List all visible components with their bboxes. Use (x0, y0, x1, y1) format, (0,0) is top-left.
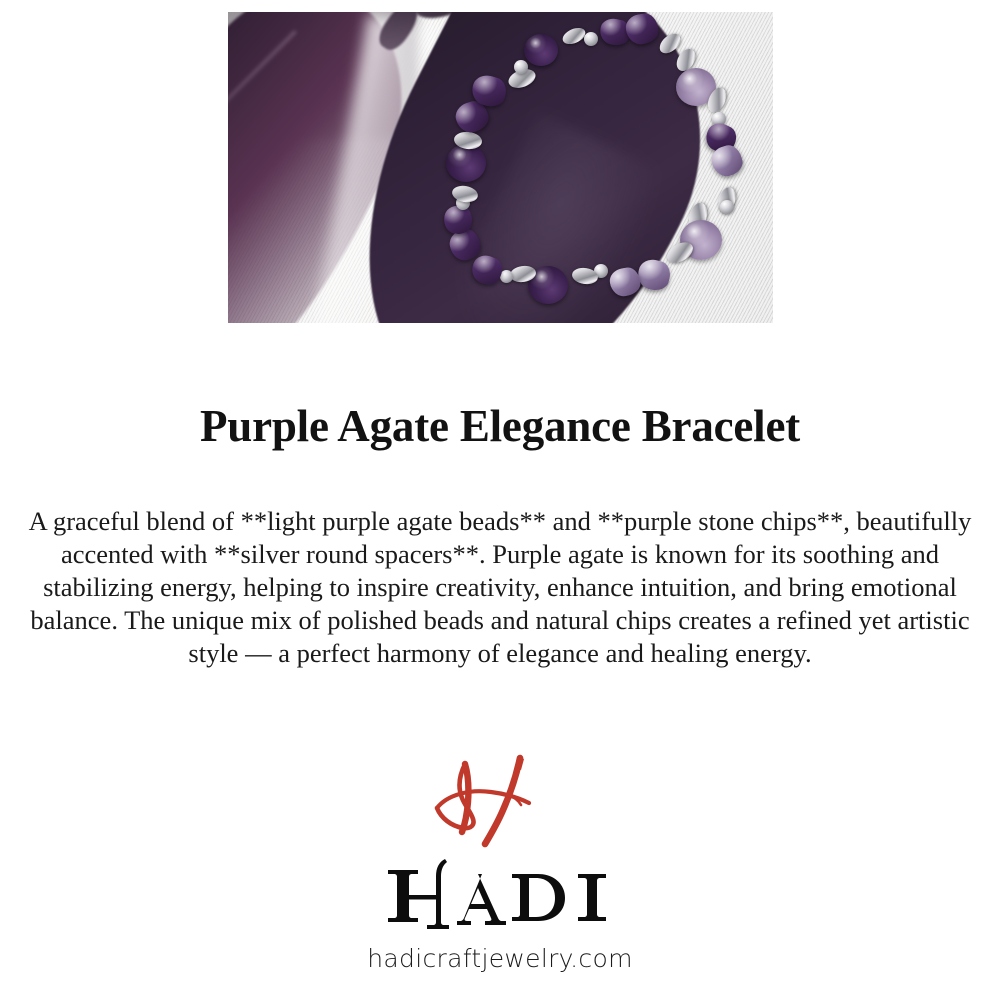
product-photo (228, 12, 773, 323)
product-card: Purple Agate Elegance Bracelet A gracefu… (0, 0, 1000, 1000)
script-h-monogram-icon (425, 748, 575, 852)
product-description: A graceful blend of **light purple agate… (28, 505, 972, 670)
brand-wordmark (0, 852, 1000, 932)
website-url[interactable]: hadicraftjewelry.com (0, 944, 1000, 973)
bracelet-bead (524, 34, 558, 66)
page-title: Purple Agate Elegance Bracelet (0, 402, 1000, 451)
photo-bracelet (228, 12, 773, 323)
photo-fabric-background (228, 12, 773, 323)
bracelet-chip (608, 266, 642, 299)
brand-logo: hadicraftjewelry.com (0, 748, 1000, 988)
bracelet-ball (514, 60, 528, 74)
bracelet-chip (624, 12, 660, 46)
bracelet-ball (720, 200, 734, 214)
bracelet-bead (446, 144, 486, 182)
bracelet-ball (584, 32, 598, 46)
bracelet-chip (635, 257, 673, 294)
